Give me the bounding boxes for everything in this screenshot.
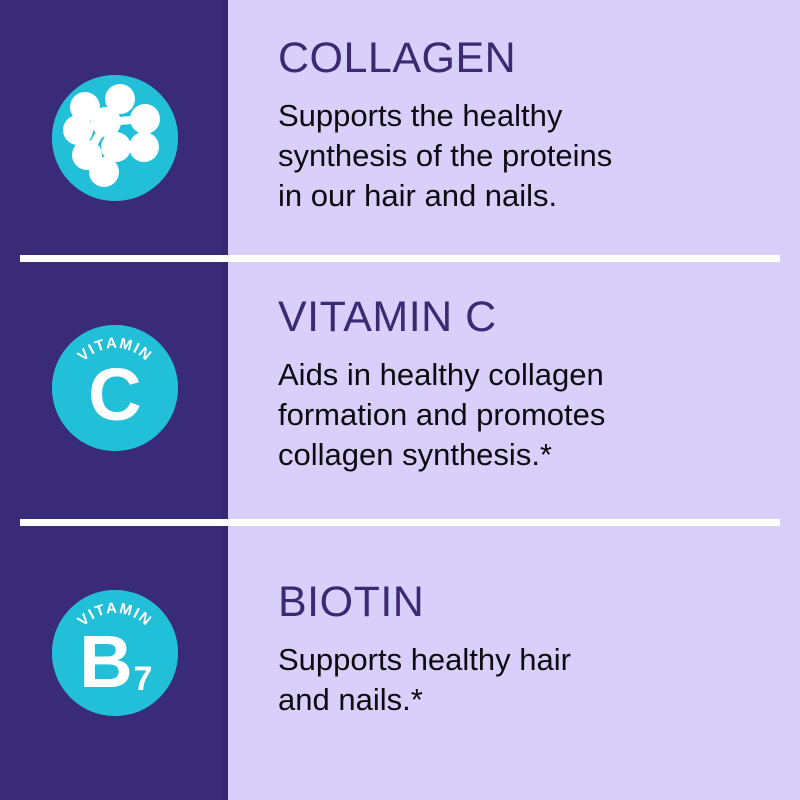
biotin-icon-slot: VITAMIN B 7 [52, 590, 178, 716]
biotin-heading: BIOTIN [278, 578, 748, 626]
collagen-description: Supports the healthy synthesis of the pr… [278, 82, 748, 216]
vitamin-c-badge-icon: VITAMIN C [52, 325, 178, 451]
vitamin-b-letter: B [79, 620, 132, 703]
vitamin-b-subscript: 7 [134, 660, 153, 698]
vitamin-c-description: Aids in healthy collagen formation and p… [278, 341, 748, 475]
collagen-icon-slot [52, 75, 178, 201]
vitamin-c-letter: C [88, 353, 141, 436]
collagen-heading: COLLAGEN [278, 34, 748, 82]
collagen-text-block: COLLAGEN Supports the healthy synthesis … [278, 34, 748, 216]
supplement-benefits-infographic: COLLAGEN Supports the healthy synthesis … [0, 0, 800, 800]
vitamin-c-heading: VITAMIN C [278, 293, 748, 341]
biotin-text-block: BIOTIN Supports healthy hair and nails.* [278, 578, 748, 720]
biotin-description: Supports healthy hair and nails.* [278, 626, 748, 720]
vitamin-b7-badge-icon: VITAMIN B 7 [52, 590, 178, 716]
collagen-molecule-icon [52, 75, 178, 201]
vitamin-c-icon-slot: VITAMIN C [52, 325, 178, 451]
vitamin-c-text-block: VITAMIN C Aids in healthy collagen forma… [278, 293, 748, 475]
